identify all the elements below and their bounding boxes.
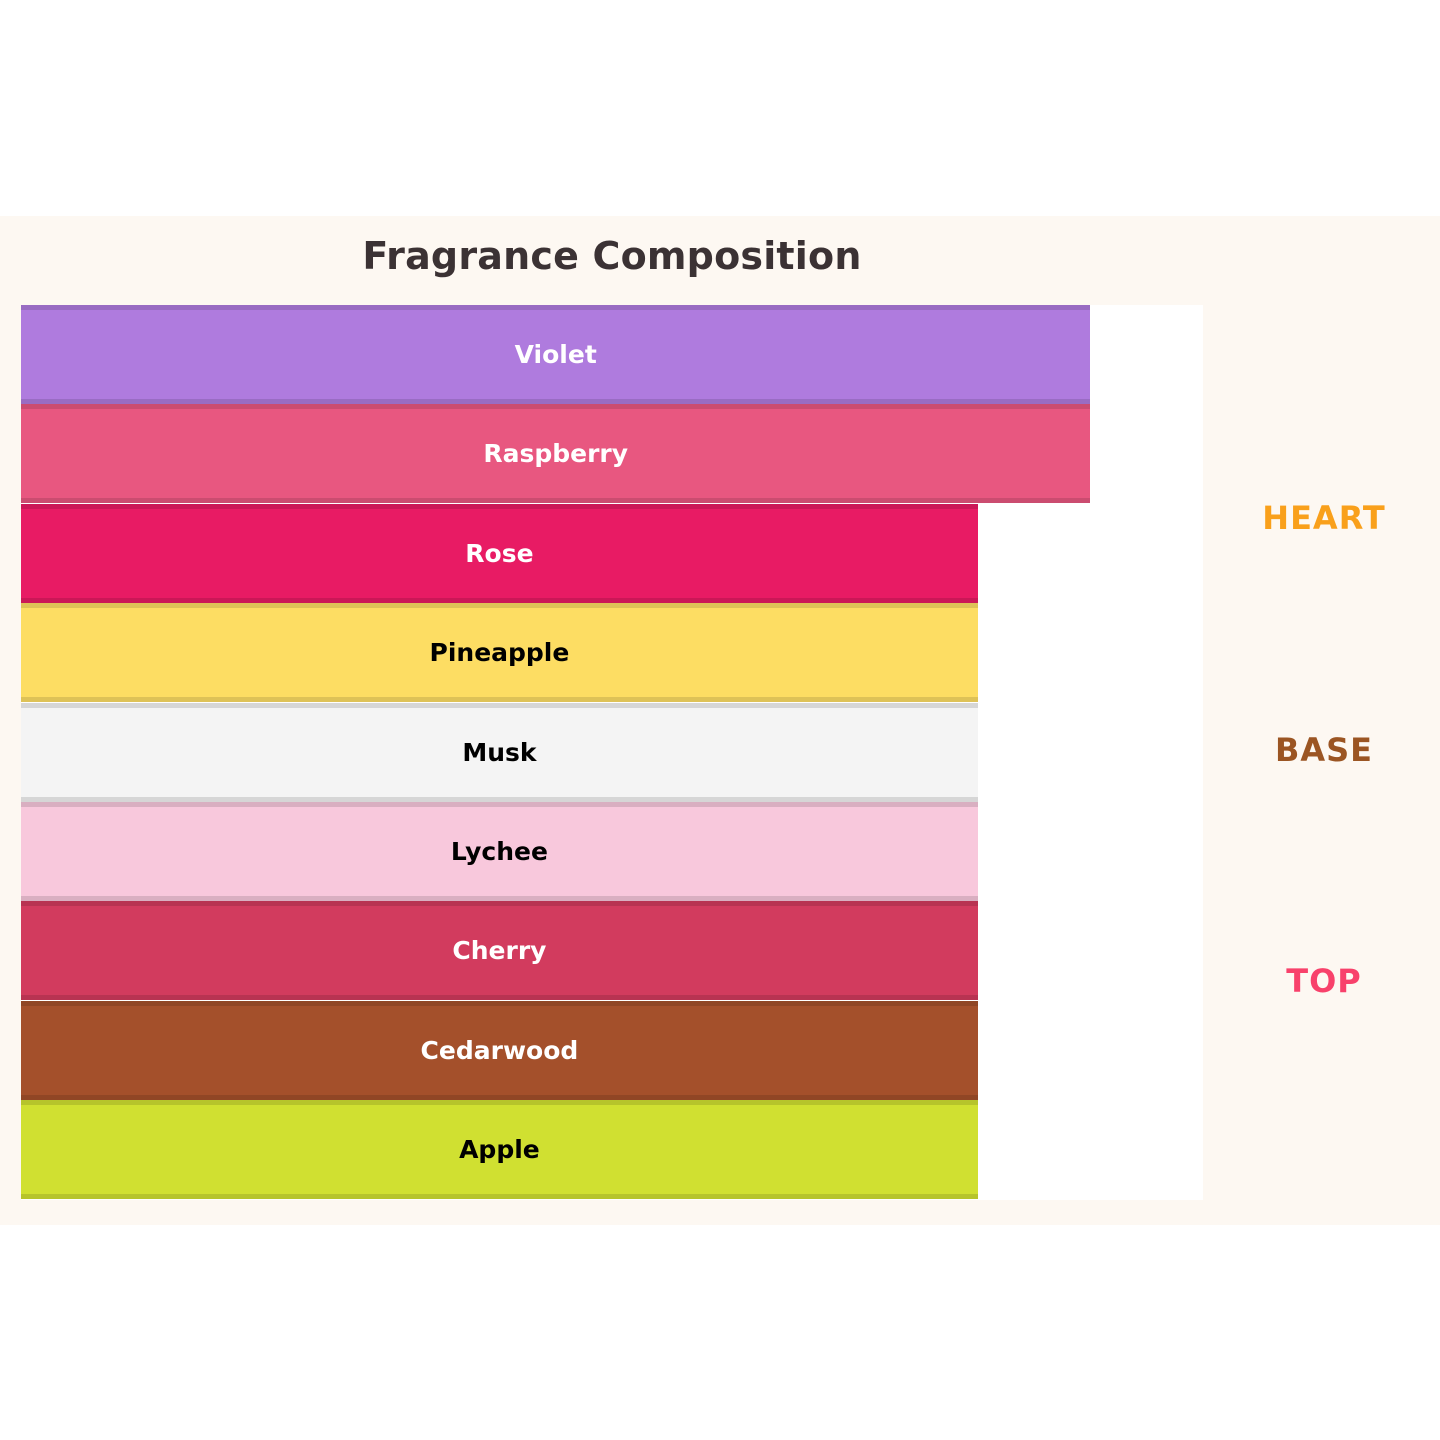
- bar-rect[interactable]: [21, 1100, 978, 1199]
- bar-rect[interactable]: [21, 802, 978, 901]
- bar-row[interactable]: Lychee: [21, 802, 1203, 901]
- group-label-base: BASE: [1208, 731, 1440, 769]
- plot-area: VioletRaspberryRosePineappleMuskLycheeCh…: [21, 305, 1203, 1200]
- bar-rect[interactable]: [21, 404, 1090, 503]
- bar-row[interactable]: Raspberry: [21, 404, 1203, 503]
- bar-row[interactable]: Cherry: [21, 901, 1203, 1000]
- group-label-top: TOP: [1208, 962, 1440, 1000]
- bar-rect[interactable]: [21, 305, 1090, 404]
- group-label-heart: HEART: [1208, 499, 1440, 537]
- bar-row[interactable]: Rose: [21, 504, 1203, 603]
- bar-rect[interactable]: [21, 504, 978, 603]
- bar-row[interactable]: Apple: [21, 1100, 1203, 1199]
- bar-rect[interactable]: [21, 1001, 978, 1100]
- bar-row[interactable]: Violet: [21, 305, 1203, 404]
- bar-rect[interactable]: [21, 603, 978, 702]
- chart-figure: Fragrance Composition VioletRaspberryRos…: [0, 216, 1440, 1225]
- chart-title: Fragrance Composition: [0, 234, 1224, 278]
- bar-row[interactable]: Cedarwood: [21, 1001, 1203, 1100]
- bar-rect[interactable]: [21, 703, 978, 802]
- bar-row[interactable]: Pineapple: [21, 603, 1203, 702]
- bar-rect[interactable]: [21, 901, 978, 1000]
- bar-row[interactable]: Musk: [21, 703, 1203, 802]
